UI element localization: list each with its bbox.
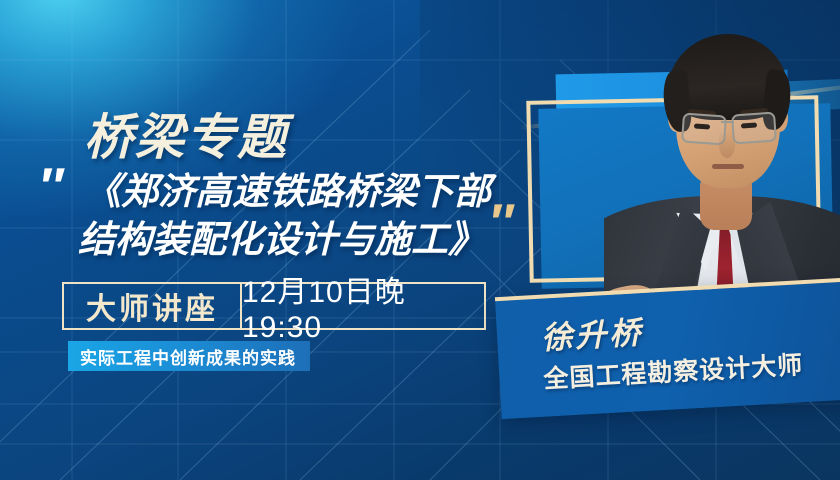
lecture-subtitle-line2: 结构装配化设计与施工》 — [78, 216, 491, 264]
lecture-info-box: 大师讲座 12月10日晚19:30 — [62, 282, 486, 330]
lecture-subtitle-line1: 《郑济高速铁路桥梁下部 — [84, 171, 491, 212]
tagline-banner: 实际工程中创新成果的实践 — [68, 341, 310, 371]
page-title: 桥梁专题 — [84, 98, 288, 169]
speaker-nameplate: 徐升桥 全国工程勘察设计大师 — [495, 275, 840, 419]
lecture-subtitle: 《郑济高速铁路桥梁下部 结构装配化设计与施工》 — [84, 168, 491, 264]
poster-canvas: 桥梁专题 ″ ″ 《郑济高速铁路桥梁下部 结构装配化设计与施工》 大师讲座 12… — [0, 0, 840, 480]
lecture-datetime-label: 12月10日晚19:30 — [242, 267, 484, 345]
quote-open-icon: ″ — [38, 172, 60, 203]
quote-close-icon: ″ — [488, 208, 510, 239]
lecture-type-label: 大师讲座 — [64, 284, 242, 328]
